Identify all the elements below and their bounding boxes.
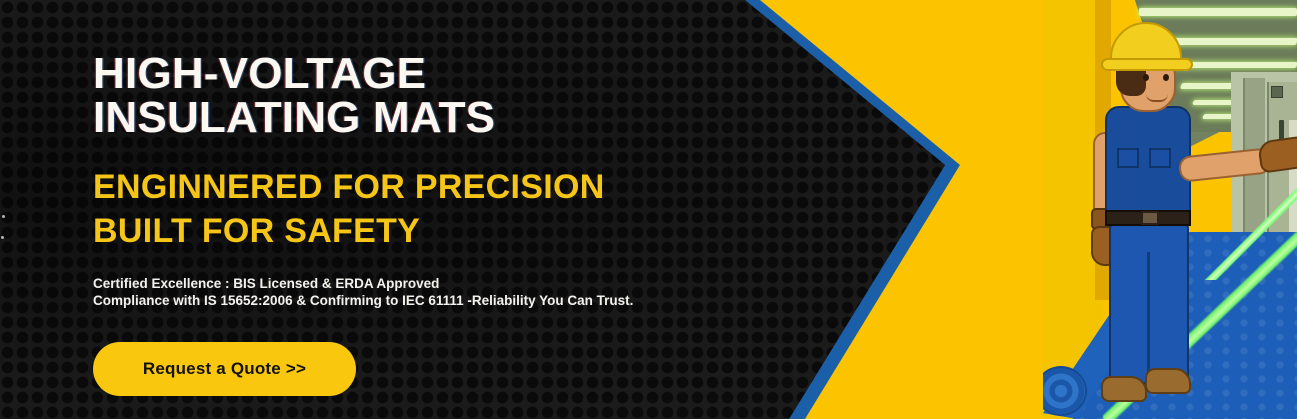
worker-shoe	[1101, 376, 1147, 402]
worker-leg-seam	[1147, 252, 1150, 384]
cabinet-switch-icon	[1271, 86, 1283, 98]
worker-shirt-pocket	[1149, 148, 1171, 168]
edge-speck	[1, 236, 4, 239]
hero-banner: HIGH-VOLTAGE INSULATING MATS ENGINNERED …	[0, 0, 1297, 419]
electrician-figure	[1083, 12, 1233, 419]
illustration-electrician-scene	[1043, 0, 1297, 419]
edge-speck	[2, 215, 5, 218]
banner-headline: HIGH-VOLTAGE INSULATING MATS	[93, 52, 495, 140]
request-a-quote-button[interactable]: Request a Quote >>	[93, 342, 356, 396]
worker-shirt-pocket	[1117, 148, 1139, 168]
worker-eye	[1143, 74, 1149, 81]
worker-belt-buckle	[1141, 211, 1159, 225]
banner-content: HIGH-VOLTAGE INSULATING MATS ENGINNERED …	[93, 0, 733, 419]
worker-shoe	[1145, 368, 1191, 394]
worker-eye	[1163, 74, 1169, 81]
cabinet-handle-icon	[1279, 120, 1284, 140]
hard-hat-brim	[1101, 58, 1193, 71]
banner-certification-text: Certified Excellence : BIS Licensed & ER…	[93, 275, 633, 309]
banner-subheadline: ENGINNERED FOR PRECISION BUILT FOR SAFET…	[93, 165, 605, 253]
